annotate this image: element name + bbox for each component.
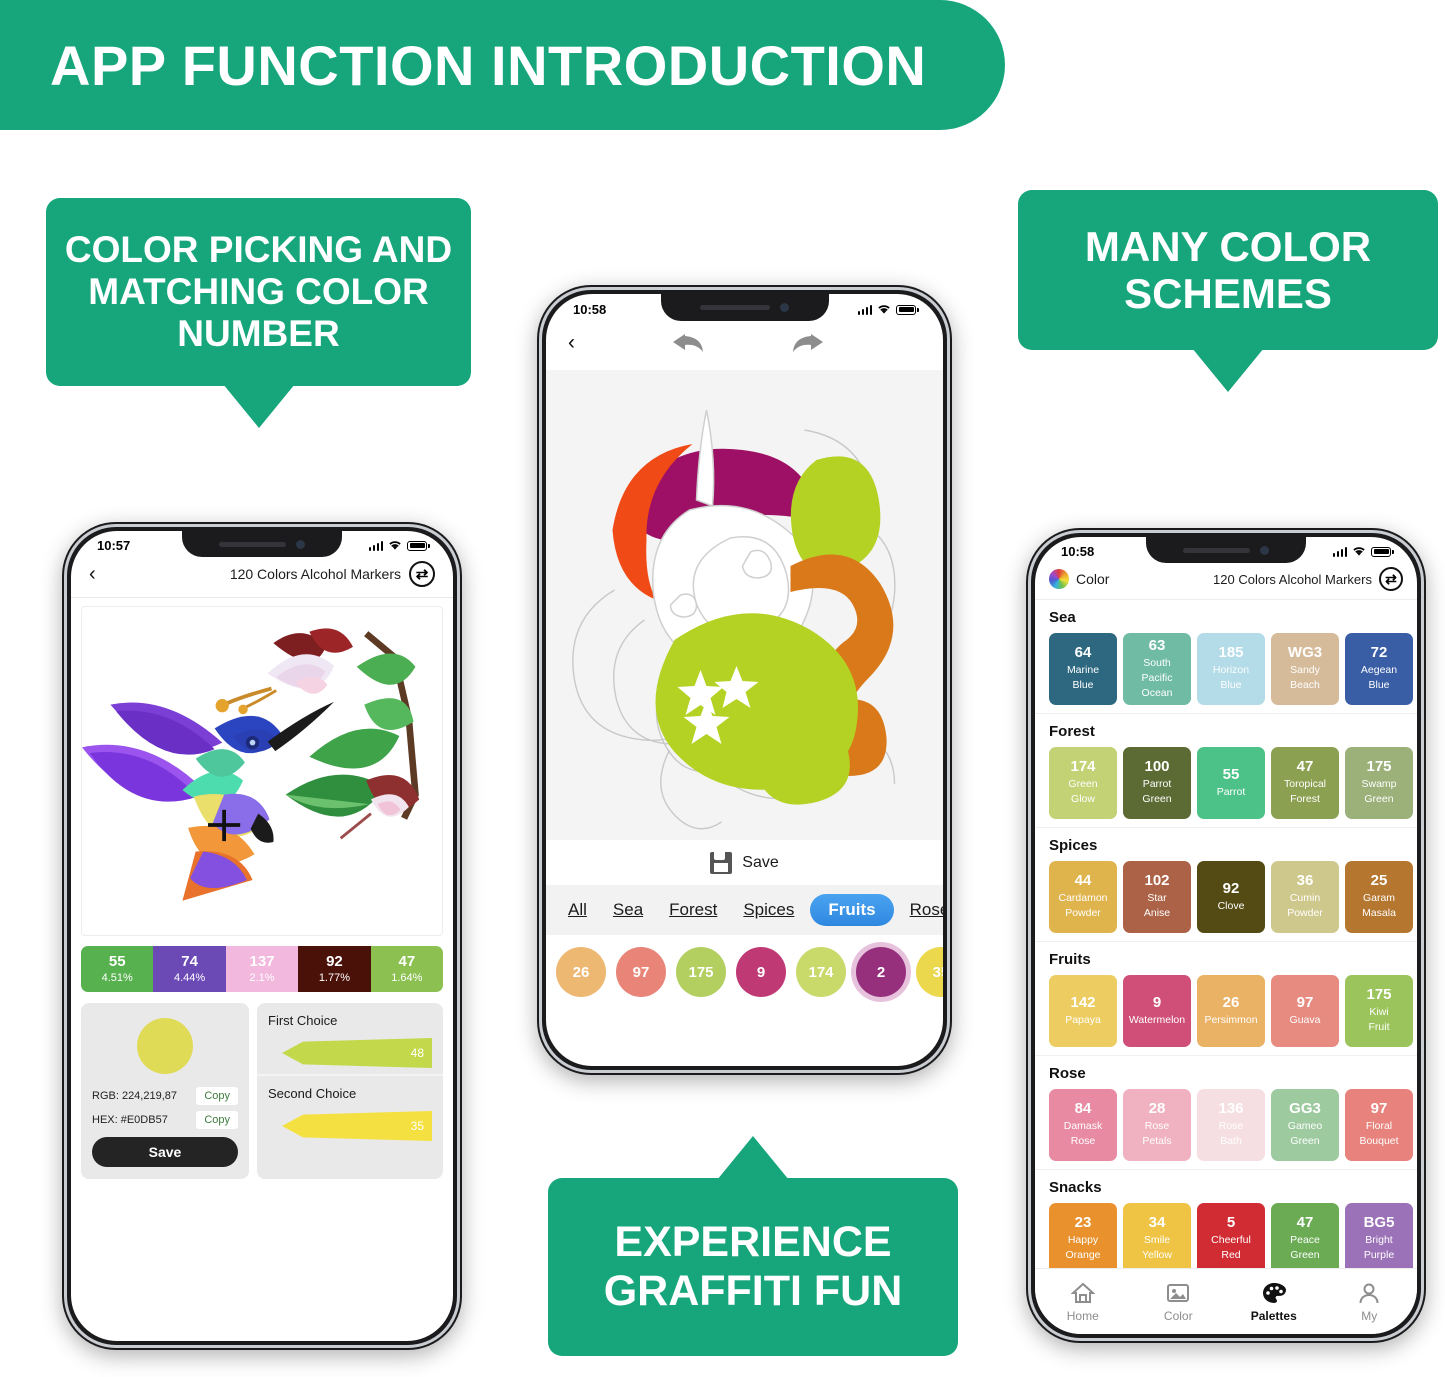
palette-card-number: 44 xyxy=(1075,872,1092,891)
palette-card-name: RoseBath xyxy=(1219,1119,1244,1149)
palette-section-rose: Rose84DamaskRose28RosePetals136RoseBathG… xyxy=(1035,1056,1417,1170)
palette-card-number: 142 xyxy=(1070,994,1095,1013)
palette-icon xyxy=(1261,1281,1287,1305)
palette-card-1-1[interactable]: 100ParrotGreen xyxy=(1123,747,1191,819)
callout-tail-icon xyxy=(223,384,295,428)
palette-card-2-2[interactable]: 92Clove xyxy=(1197,861,1265,933)
palette-card-3-2[interactable]: 26Persimmon xyxy=(1197,975,1265,1047)
section-title: Rose xyxy=(1035,1065,1417,1089)
palette-card-number: BG5 xyxy=(1364,1214,1395,1233)
tab-palettes-label: Palettes xyxy=(1251,1309,1297,1323)
palette-card-name: SwampGreen xyxy=(1361,777,1396,807)
phone3-screen: 10:58 Color 120 Colors Alcohol Markers ⇄… xyxy=(1035,537,1417,1334)
color-dot-row: 26 97 175 9 174 2 35 xyxy=(546,935,943,1013)
palette-section-spices: Spices44CardamonPowder102StarAnise92Clov… xyxy=(1035,828,1417,942)
palette-card-number: 55 xyxy=(1223,766,1240,785)
section-card-row[interactable]: 84DamaskRose28RosePetals136RoseBathGG3Ga… xyxy=(1035,1089,1417,1161)
callout-many-schemes: MANY COLOR SCHEMES xyxy=(1018,190,1438,350)
palette-section-snacks: Snacks23HappyOrange34SmileYellow5Cheerfu… xyxy=(1035,1170,1417,1284)
swatch-number: 137 xyxy=(226,953,298,970)
picked-color-preview xyxy=(137,1018,193,1074)
tab-color[interactable]: Color xyxy=(1131,1281,1227,1323)
palette-card-4-0[interactable]: 84DamaskRose xyxy=(1049,1089,1117,1161)
category-tabs: All Sea Forest Spices Fruits Rose S xyxy=(546,885,943,935)
palette-card-number: 175 xyxy=(1366,758,1391,777)
section-card-row[interactable]: 23HappyOrange34SmileYellow5CheerfulRed47… xyxy=(1035,1203,1417,1275)
status-icons xyxy=(1333,546,1392,557)
image-icon xyxy=(1165,1281,1191,1305)
phone-palette-list: 10:58 Color 120 Colors Alcohol Markers ⇄… xyxy=(1026,528,1426,1343)
wifi-icon xyxy=(1352,546,1366,557)
palette-card-3-4[interactable]: 175KiwiFruit xyxy=(1345,975,1413,1047)
home-icon xyxy=(1070,1281,1096,1305)
back-icon[interactable]: ‹ xyxy=(568,331,575,355)
hex-value: HEX: #E0DB57 xyxy=(92,1114,168,1126)
page-title: APP FUNCTION INTRODUCTION xyxy=(0,33,926,98)
palette-card-name: KiwiFruit xyxy=(1369,1005,1390,1035)
phone3-nav-title: 120 Colors Alcohol Markers xyxy=(1213,572,1372,587)
tab-forest[interactable]: Forest xyxy=(659,894,727,926)
color-dot-3[interactable]: 9 xyxy=(736,947,786,997)
first-choice-marker: 48 xyxy=(282,1038,432,1068)
callout-color-picking: COLOR PICKING AND MATCHING COLOR NUMBER xyxy=(46,198,471,386)
callout-right-text: MANY COLOR SCHEMES xyxy=(1018,223,1438,318)
palette-card-3-1[interactable]: 9Watermelon xyxy=(1123,975,1191,1047)
callout-left-text: COLOR PICKING AND MATCHING COLOR NUMBER xyxy=(46,229,471,354)
color-dot-4[interactable]: 174 xyxy=(796,947,846,997)
battery-icon xyxy=(407,541,427,551)
palette-card-name: GameoGreen xyxy=(1288,1119,1322,1149)
palette-card-number: 25 xyxy=(1371,872,1388,891)
palette-card-number: 84 xyxy=(1075,1100,1092,1119)
palette-card-0-3[interactable]: WG3SandyBeach xyxy=(1271,633,1339,705)
palette-card-number: 97 xyxy=(1297,994,1314,1013)
palette-card-2-1[interactable]: 102StarAnise xyxy=(1123,861,1191,933)
section-card-row[interactable]: 64MarineBlue63SouthPacificOcean185Horizo… xyxy=(1035,633,1417,705)
artwork-canvas-hummingbird[interactable] xyxy=(81,606,443,936)
palette-card-number: 47 xyxy=(1297,1214,1314,1233)
palette-card-0-2[interactable]: 185HorizonBlue xyxy=(1197,633,1265,705)
palette-card-name: GaramMasala xyxy=(1362,891,1396,921)
palette-card-number: 36 xyxy=(1297,872,1314,891)
tab-all[interactable]: All xyxy=(558,894,597,926)
floppy-disk-icon xyxy=(710,852,732,874)
palette-card-name: ToropicalForest xyxy=(1284,777,1326,807)
callout-graffiti-fun: EXPERIENCE GRAFFITI FUN xyxy=(548,1178,958,1356)
phone-color-picker: 10:57 ‹ 120 Colors Alcohol Markers ⇄ xyxy=(62,522,462,1350)
section-title: Fruits xyxy=(1035,951,1417,975)
tab-sea[interactable]: Sea xyxy=(603,894,653,926)
back-icon[interactable]: ‹ xyxy=(89,563,113,586)
phone1-screen: 10:57 ‹ 120 Colors Alcohol Markers ⇄ xyxy=(71,531,453,1341)
palette-card-4-3[interactable]: GG3GameoGreen xyxy=(1271,1089,1339,1161)
palette-card-0-1[interactable]: 63SouthPacificOcean xyxy=(1123,633,1191,705)
color-dot-6[interactable]: 35 xyxy=(916,947,943,997)
callout-tail-icon xyxy=(1192,348,1264,392)
palette-card-name: Watermelon xyxy=(1129,1013,1185,1028)
palette-card-name: ParrotGreen xyxy=(1142,777,1171,807)
palette-card-number: 23 xyxy=(1075,1214,1092,1233)
color-dot-2[interactable]: 175 xyxy=(676,947,726,997)
palette-section-sea: Sea64MarineBlue63SouthPacificOcean185Hor… xyxy=(1035,600,1417,714)
palette-card-3-3[interactable]: 97Guava xyxy=(1271,975,1339,1047)
tab-rose[interactable]: Rose xyxy=(900,894,943,926)
battery-icon xyxy=(1371,547,1391,557)
phone1-nav-bar: ‹ 120 Colors Alcohol Markers ⇄ xyxy=(71,555,453,598)
signal-icon xyxy=(369,541,384,551)
palette-card-name: RosePetals xyxy=(1142,1119,1171,1149)
palette-card-name: CheerfulRed xyxy=(1211,1233,1251,1263)
tab-palettes[interactable]: Palettes xyxy=(1226,1281,1322,1323)
undo-icon[interactable] xyxy=(669,328,709,358)
palette-card-number: 5 xyxy=(1227,1214,1235,1233)
second-choice-label: Second Choice xyxy=(268,1086,432,1101)
palette-card-name: Papaya xyxy=(1065,1013,1101,1028)
palette-card-name: Clove xyxy=(1218,899,1245,914)
swatch-percent: 4.44% xyxy=(153,972,225,984)
palette-card-number: 102 xyxy=(1144,872,1169,891)
bottom-tab-bar: Home Color Palettes My xyxy=(1035,1268,1417,1334)
palette-card-2-3[interactable]: 36CuminPowder xyxy=(1271,861,1339,933)
first-choice-label: First Choice xyxy=(268,1013,432,1028)
tab-fruits[interactable]: Fruits xyxy=(810,894,893,926)
save-label: Save xyxy=(742,854,778,872)
palette-section-forest: Forest174GreenGlow100ParrotGreen55Parrot… xyxy=(1035,714,1417,828)
tab-my[interactable]: My xyxy=(1322,1281,1418,1323)
unicorn-artwork xyxy=(546,370,943,840)
color-dot-1[interactable]: 97 xyxy=(616,947,666,997)
phone1-nav-title: 120 Colors Alcohol Markers xyxy=(230,566,401,582)
palette-card-5-4[interactable]: BG5BrightPurple xyxy=(1345,1203,1413,1275)
palette-card-number: WG3 xyxy=(1288,644,1322,663)
section-title: Spices xyxy=(1035,837,1417,861)
signal-icon xyxy=(1333,547,1348,557)
palette-card-number: GG3 xyxy=(1289,1100,1321,1119)
swatch-number: 47 xyxy=(371,953,443,970)
tab-color-label: Color xyxy=(1164,1309,1193,1323)
palette-card-number: 47 xyxy=(1297,758,1314,777)
wifi-icon xyxy=(388,540,402,551)
palette-card-name: SandyBeach xyxy=(1290,663,1320,693)
top-banner: APP FUNCTION INTRODUCTION xyxy=(0,0,1005,130)
palette-card-name: MarineBlue xyxy=(1067,663,1099,693)
copy-hex-button[interactable]: Copy xyxy=(196,1111,238,1129)
palette-card-name: Parrot xyxy=(1217,785,1246,800)
palette-card-number: 136 xyxy=(1218,1100,1243,1119)
swatch-4[interactable]: 47 1.64% xyxy=(371,946,443,992)
palette-card-4-1[interactable]: 28RosePetals xyxy=(1123,1089,1191,1161)
rgb-row: RGB: 224,219,87 Copy xyxy=(92,1087,238,1105)
palette-card-number: 72 xyxy=(1371,644,1388,663)
section-card-row[interactable]: 174GreenGlow100ParrotGreen55Parrot47Toro… xyxy=(1035,747,1417,819)
palette-card-name: HappyOrange xyxy=(1065,1233,1100,1263)
swatch-percent: 1.77% xyxy=(298,972,370,984)
palette-card-name: CuminPowder xyxy=(1287,891,1323,921)
color-percentage-bar: 55 4.51% 74 4.44% 137 2.1% 92 1.77% 47 1… xyxy=(81,946,443,992)
palette-card-5-1[interactable]: 34SmileYellow xyxy=(1123,1203,1191,1275)
palette-card-1-0[interactable]: 174GreenGlow xyxy=(1049,747,1117,819)
section-title: Sea xyxy=(1035,609,1417,633)
swap-icon[interactable]: ⇄ xyxy=(409,561,435,587)
status-icons xyxy=(369,540,428,551)
palette-card-name: SouthPacificOcean xyxy=(1142,656,1173,702)
swatch-0[interactable]: 55 4.51% xyxy=(81,946,153,992)
status-icons xyxy=(858,304,917,315)
palette-card-number: 185 xyxy=(1218,644,1243,663)
tab-home[interactable]: Home xyxy=(1035,1281,1131,1323)
color-wheel-icon xyxy=(1049,569,1069,589)
color-dot-5-selected[interactable]: 2 xyxy=(856,947,906,997)
phone3-status-bar: 10:58 xyxy=(1035,537,1417,561)
status-time: 10:57 xyxy=(97,538,130,553)
phone3-nav-bar: Color 120 Colors Alcohol Markers ⇄ xyxy=(1035,561,1417,600)
palette-card-2-0[interactable]: 44CardamonPowder xyxy=(1049,861,1117,933)
phone2-screen: 10:58 ‹ xyxy=(546,294,943,1066)
palette-card-number: 92 xyxy=(1223,880,1240,899)
tab-home-label: Home xyxy=(1067,1309,1099,1323)
swap-icon[interactable]: ⇄ xyxy=(1379,567,1403,591)
picked-color-panel: RGB: 224,219,87 Copy HEX: #E0DB57 Copy S… xyxy=(81,1003,443,1179)
palette-card-number: 64 xyxy=(1075,644,1092,663)
section-card-row[interactable]: 44CardamonPowder102StarAnise92Clove36Cum… xyxy=(1035,861,1417,933)
hummingbird-artwork xyxy=(82,607,442,935)
palette-card-4-4[interactable]: 97FloralBouquet xyxy=(1345,1089,1413,1161)
palette-card-name: StarAnise xyxy=(1144,891,1170,921)
palette-card-0-4[interactable]: 72AegeanBlue xyxy=(1345,633,1413,705)
palette-card-1-4[interactable]: 175SwampGreen xyxy=(1345,747,1413,819)
second-choice-marker: 35 xyxy=(282,1111,432,1141)
copy-rgb-button[interactable]: Copy xyxy=(196,1087,238,1105)
save-bar[interactable]: Save xyxy=(546,840,943,885)
palette-card-1-3[interactable]: 47ToropicalForest xyxy=(1271,747,1339,819)
phone2-toolbar: ‹ xyxy=(546,320,943,370)
palette-card-number: 175 xyxy=(1366,986,1391,1005)
battery-icon xyxy=(896,305,916,315)
undo-redo-group xyxy=(669,328,827,358)
swatch-1[interactable]: 74 4.44% xyxy=(153,946,225,992)
phone2-status-bar: 10:58 xyxy=(546,294,943,320)
choices-card: First Choice 48 Second Choice 35 xyxy=(257,1003,443,1179)
tab-spices[interactable]: Spices xyxy=(733,894,804,926)
palette-card-1-2[interactable]: 55Parrot xyxy=(1197,747,1265,819)
status-time: 10:58 xyxy=(573,302,606,317)
palette-card-name: Guava xyxy=(1290,1013,1321,1028)
phone-coloring-canvas: 10:58 ‹ xyxy=(537,285,952,1075)
section-title: Forest xyxy=(1035,723,1417,747)
palette-sections: Sea64MarineBlue63SouthPacificOcean185Hor… xyxy=(1035,600,1417,1284)
section-card-row[interactable]: 142Papaya9Watermelon26Persimmon97Guava17… xyxy=(1035,975,1417,1047)
swatch-percent: 4.51% xyxy=(81,972,153,984)
second-choice-number: 35 xyxy=(411,1119,424,1133)
callout-tail-icon xyxy=(717,1136,789,1180)
section-title: Snacks xyxy=(1035,1179,1417,1203)
palette-card-name: HorizonBlue xyxy=(1213,663,1249,693)
signal-icon xyxy=(858,305,873,315)
tab-my-label: My xyxy=(1361,1309,1377,1323)
palette-card-number: 34 xyxy=(1149,1214,1166,1233)
palette-card-name: BrightPurple xyxy=(1364,1233,1394,1263)
artwork-canvas-unicorn[interactable] xyxy=(546,370,943,840)
wifi-icon xyxy=(877,304,891,315)
palette-card-name: GreenGlow xyxy=(1068,777,1097,807)
palette-card-0-0[interactable]: 64MarineBlue xyxy=(1049,633,1117,705)
palette-card-name: DamaskRose xyxy=(1064,1119,1103,1149)
swatch-2[interactable]: 137 2.1% xyxy=(226,946,298,992)
hex-row: HEX: #E0DB57 Copy xyxy=(92,1111,238,1129)
first-choice-number: 48 xyxy=(411,1046,424,1060)
palette-section-fruits: Fruits142Papaya9Watermelon26Persimmon97G… xyxy=(1035,942,1417,1056)
callout-bottom-text: EXPERIENCE GRAFFITI FUN xyxy=(548,1218,958,1315)
palette-card-number: 100 xyxy=(1144,758,1169,777)
palette-card-2-4[interactable]: 25GaramMasala xyxy=(1345,861,1413,933)
person-icon xyxy=(1356,1281,1382,1305)
save-button[interactable]: Save xyxy=(92,1137,238,1167)
palette-card-number: 9 xyxy=(1153,994,1161,1013)
swatch-number: 74 xyxy=(153,953,225,970)
swatch-percent: 2.1% xyxy=(226,972,298,984)
palette-card-number: 63 xyxy=(1149,637,1166,656)
palette-card-number: 26 xyxy=(1223,994,1240,1013)
palette-card-number: 174 xyxy=(1070,758,1095,777)
redo-icon[interactable] xyxy=(787,328,827,358)
palette-card-name: PeaceGreen xyxy=(1290,1233,1320,1263)
rgb-value: RGB: 224,219,87 xyxy=(92,1090,177,1102)
palette-card-number: 97 xyxy=(1371,1100,1388,1119)
color-label: Color xyxy=(1076,571,1109,587)
palette-card-name: CardamonPowder xyxy=(1058,891,1107,921)
palette-card-number: 28 xyxy=(1149,1100,1166,1119)
color-dot-0[interactable]: 26 xyxy=(556,947,606,997)
swatch-percent: 1.64% xyxy=(371,972,443,984)
palette-card-name: Persimmon xyxy=(1204,1013,1257,1028)
palette-card-name: FloralBouquet xyxy=(1359,1119,1398,1149)
palette-card-name: AegeanBlue xyxy=(1361,663,1397,693)
first-choice[interactable]: First Choice 48 xyxy=(257,1003,443,1074)
palette-card-5-2[interactable]: 5CheerfulRed xyxy=(1197,1203,1265,1275)
swatch-number: 92 xyxy=(298,953,370,970)
palette-card-5-0[interactable]: 23HappyOrange xyxy=(1049,1203,1117,1275)
palette-card-5-3[interactable]: 47PeaceGreen xyxy=(1271,1203,1339,1275)
phone1-status-bar: 10:57 xyxy=(71,531,453,555)
second-choice[interactable]: Second Choice 35 xyxy=(257,1074,443,1147)
picked-color-card: RGB: 224,219,87 Copy HEX: #E0DB57 Copy S… xyxy=(81,1003,249,1179)
palette-card-4-2[interactable]: 136RoseBath xyxy=(1197,1089,1265,1161)
swatch-3[interactable]: 92 1.77% xyxy=(298,946,370,992)
palette-card-3-0[interactable]: 142Papaya xyxy=(1049,975,1117,1047)
swatch-number: 55 xyxy=(81,953,153,970)
palette-card-name: SmileYellow xyxy=(1142,1233,1172,1263)
status-time: 10:58 xyxy=(1061,544,1094,559)
